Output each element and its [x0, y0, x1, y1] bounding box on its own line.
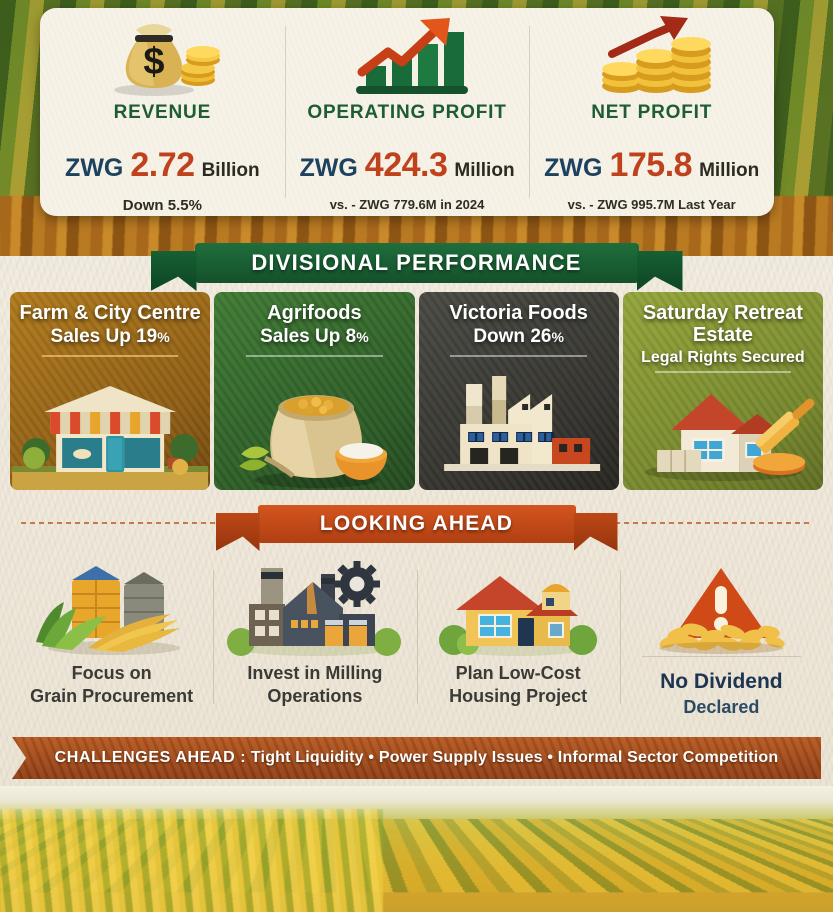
division-metric: Down 26% [427, 326, 611, 348]
retail-storefront-icon [10, 372, 210, 490]
kpi-subtext: vs. - ZWG 995.7M Last Year [568, 197, 736, 212]
kpi-net-profit: NET PROFIT ZWG 175.8 Million vs. - ZWG 9… [529, 8, 774, 216]
ahead-item-grain-procurement[interactable]: Focus on Grain Procurement [10, 556, 213, 722]
banner-text: DIVISIONAL PERFORMANCE [195, 243, 639, 283]
kpi-number: 424.3 [365, 146, 448, 185]
ahead-label: No Dividend Declared [660, 669, 783, 719]
ahead-item-milling-operations[interactable]: Invest in Milling Operations [213, 556, 416, 722]
kpi-value: ZWG 2.72 Billion [65, 146, 260, 185]
kpi-title: NET PROFIT [591, 102, 712, 124]
kpi-unit: Million [454, 160, 514, 182]
divider [246, 355, 382, 357]
division-card-victoria-foods[interactable]: Victoria Foods Down 26% [419, 292, 619, 490]
division-title: Saturday Retreat Estate [631, 302, 815, 347]
division-metric: Sales Up 8% [222, 326, 406, 348]
kpi-unit: Billion [202, 160, 260, 182]
growth-bar-chart-icon [342, 16, 472, 98]
kpi-subtext: Down 5.5% [123, 197, 202, 214]
challenges-text: CHALLENGES AHEAD : Tight Liquidity • Pow… [55, 749, 779, 767]
grain-silo-icon [28, 556, 196, 656]
looking-ahead-banner: LOOKING AHEAD [0, 505, 833, 543]
kpi-currency: ZWG [65, 154, 123, 183]
metric-value: Legal Rights Secured [641, 349, 805, 366]
metric-prefix: Down [473, 326, 530, 347]
divisional-performance-banner: DIVISIONAL PERFORMANCE [0, 243, 833, 283]
kpi-revenue: $ REVENUE ZWG 2.72 Billion Down 5.5% [40, 8, 285, 216]
division-card-agrifoods[interactable]: Agrifoods Sales Up 8% [214, 292, 414, 490]
division-title: Victoria Foods [427, 302, 611, 324]
ahead-label-line1: No Dividend [660, 669, 783, 696]
house-icon [430, 556, 606, 656]
ahead-label-line1: Invest in Milling [247, 662, 382, 685]
warning-triangle-icon [635, 556, 807, 656]
ahead-item-no-dividend[interactable]: No Dividend Declared [620, 556, 823, 722]
milling-plant-gear-icon [221, 556, 409, 656]
challenges-lead: CHALLENGES AHEAD : [55, 749, 247, 766]
kpi-value: ZWG 175.8 Million [544, 146, 759, 185]
division-card-farm-and-city-centre[interactable]: Farm & City Centre Sales Up 19% [10, 292, 210, 490]
factory-icon [419, 372, 619, 490]
ahead-item-housing-project[interactable]: Plan Low-Cost Housing Project [417, 556, 620, 722]
kpi-currency: ZWG [299, 154, 357, 183]
metric-value: 26 [530, 326, 551, 347]
ahead-label-line2: Housing Project [449, 685, 587, 708]
ahead-label-line2: Operations [247, 685, 382, 708]
rising-coins-icon [584, 16, 720, 98]
house-gavel-icon [623, 372, 823, 490]
background-horizon-haze [0, 786, 833, 820]
ahead-label-line1: Plan Low-Cost [449, 662, 587, 685]
divider [642, 656, 801, 657]
metric-prefix: Sales Up [260, 326, 346, 347]
kpi-title: OPERATING PROFIT [307, 102, 506, 124]
kpi-subtext: vs. - ZWG 779.6M in 2024 [330, 197, 485, 212]
money-bag-icon: $ [102, 16, 222, 98]
metric-suffix: % [356, 329, 368, 345]
ahead-label-line2: Grain Procurement [30, 685, 193, 708]
metric-prefix: Sales Up [51, 326, 137, 347]
division-title: Farm & City Centre [18, 302, 202, 324]
metric-suffix: % [157, 329, 169, 345]
looking-ahead-items: Focus on Grain Procurement [10, 556, 823, 722]
metric-value: 8 [346, 326, 357, 347]
division-metric: Sales Up 19% [18, 326, 202, 348]
divider [42, 355, 178, 357]
division-metric: Legal Rights Secured [631, 349, 815, 367]
banner-text: LOOKING AHEAD [258, 505, 576, 543]
divider [450, 355, 586, 357]
divisional-cards: Farm & City Centre Sales Up 19% [10, 292, 823, 490]
kpi-unit: Million [699, 160, 759, 182]
division-title: Agrifoods [222, 302, 406, 324]
ahead-label: Invest in Milling Operations [247, 662, 382, 708]
kpi-number: 175.8 [609, 146, 692, 185]
kpi-title: REVENUE [114, 102, 211, 124]
challenges-banner: CHALLENGES AHEAD : Tight Liquidity • Pow… [12, 737, 821, 779]
grain-sack-icon [214, 372, 414, 490]
svg-text:$: $ [144, 41, 165, 83]
kpi-value: ZWG 424.3 Million [299, 146, 514, 185]
kpi-operating-profit: OPERATING PROFIT ZWG 424.3 Million vs. -… [285, 8, 530, 216]
ahead-label: Focus on Grain Procurement [30, 662, 193, 708]
kpi-number: 2.72 [130, 146, 194, 185]
kpi-currency: ZWG [544, 154, 602, 183]
ahead-label-line1: Focus on [30, 662, 193, 685]
metric-value: 19 [136, 326, 157, 347]
ahead-label-line2: Declared [660, 696, 783, 719]
challenges-items: Tight Liquidity • Power Supply Issues • … [251, 749, 778, 766]
division-card-saturday-retreat-estate[interactable]: Saturday Retreat Estate Legal Rights Sec… [623, 292, 823, 490]
metric-suffix: % [551, 329, 563, 345]
kpi-summary-card: $ REVENUE ZWG 2.72 Billion Down 5.5% [40, 8, 774, 216]
ahead-label: Plan Low-Cost Housing Project [449, 662, 587, 708]
